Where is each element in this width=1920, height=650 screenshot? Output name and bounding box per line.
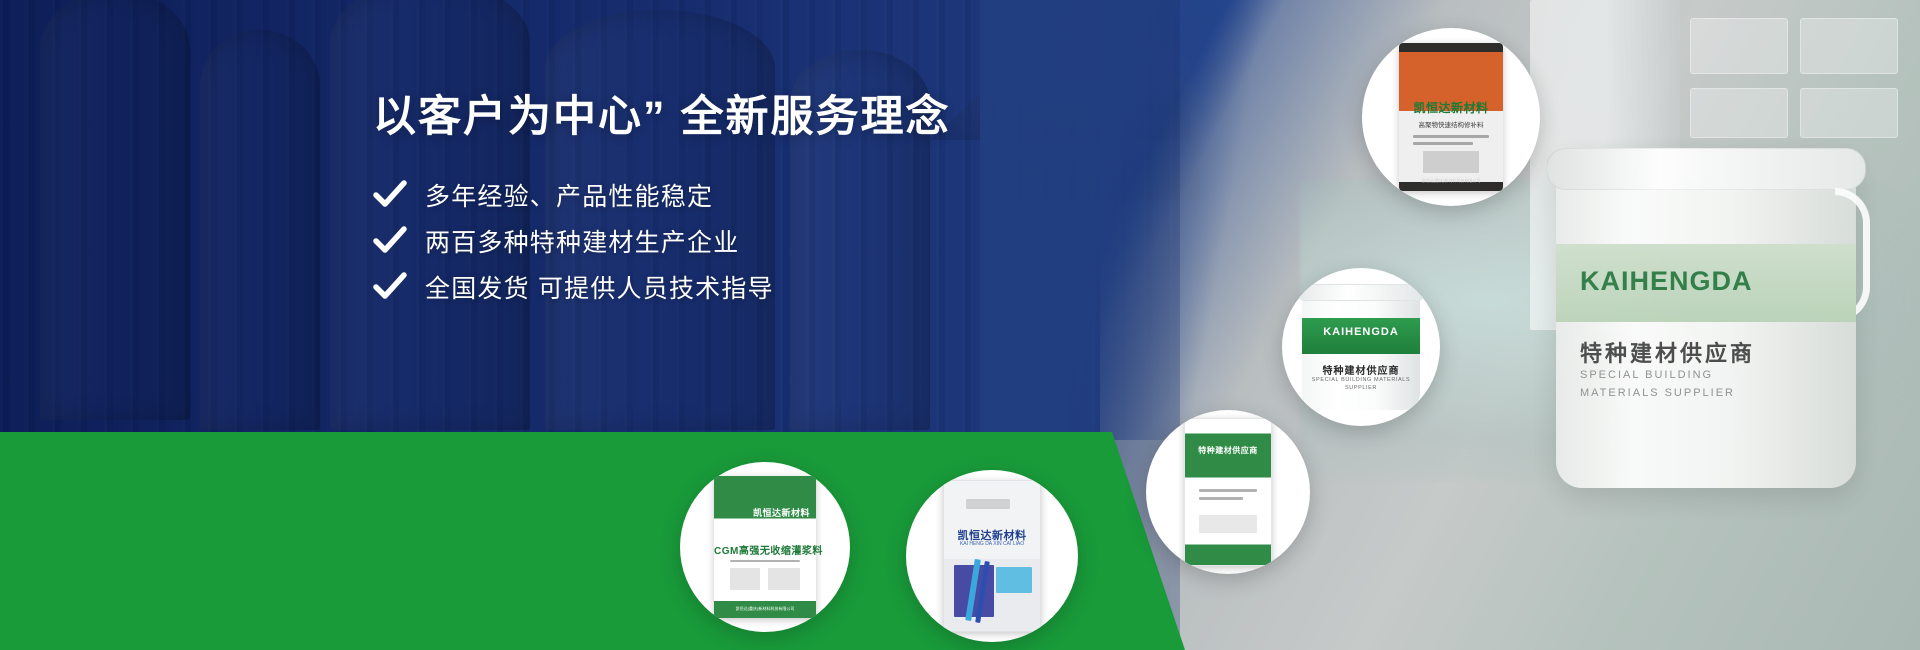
product-bag-waterproof: 凯恒达新材料 KAI HENG DA XIN CAI LIAO [943, 480, 1041, 632]
bag-detail-block [768, 568, 800, 590]
bucket-rim [1297, 284, 1425, 301]
bucket-title-cn: 特种建材供应商 [1580, 336, 1755, 368]
bag-brand-text: 凯恒达新材料 [714, 506, 816, 519]
page-title: 以客户为中心” 全新服务理念 [373, 93, 1013, 142]
bucket-title-en-line2: MATERIALS SUPPLIER [1580, 384, 1735, 403]
bucket-brand-text: KAIHENGDA [1580, 266, 1753, 297]
hero-copy-block: 以客户为中心” 全新服务理念 多年经验、产品性能稳定 两百多种特种建材生产企业 [373, 93, 1013, 310]
bag-detail-block [1199, 489, 1257, 492]
bag-detail-block [1199, 515, 1257, 533]
check-icon [373, 178, 407, 212]
bucket-title-cn: 特种建材供应商 [1302, 362, 1420, 377]
bag-company-text: 凯恒达(重庆)新材料科技有限公司 [714, 606, 816, 612]
product-bag-supplier: 特种建材供应商 [1184, 418, 1272, 566]
bag-detail-block [1413, 142, 1473, 145]
feature-list: 多年经验、产品性能稳定 两百多种特种建材生产企业 全国发货 可提供人员技术指导 [373, 172, 1013, 309]
bag-detail-block [730, 568, 760, 590]
list-item-label: 全国发货 可提供人员技术指导 [425, 269, 774, 305]
list-item-label: 两百多种特种建材生产企业 [425, 223, 739, 259]
bag-company-text: 凯恒达(重庆)新材料科技有限公司 [1399, 178, 1503, 184]
bucket-title-en-line1: SPECIAL BUILDING [1580, 366, 1713, 385]
list-item: 两百多种特种建材生产企业 [373, 218, 1013, 263]
factory-machine [1800, 18, 1898, 74]
bag-title-text: 特种建材供应商 [1185, 445, 1271, 456]
product-bag-grout: 凯恒达新材料 CGM高强无收缩灌浆料 凯恒达(重庆)新材料科技有限公司 [714, 476, 816, 618]
bag-pinyin-text: KAI HENG DA XIN CAI LIAO [944, 541, 1040, 547]
factory-machine [1690, 88, 1788, 138]
product-circle-bottom-2: 凯恒达新材料 KAI HENG DA XIN CAI LIAO [906, 470, 1078, 642]
blue-diagonal-wedge [980, 0, 1300, 440]
bag-barcode [966, 499, 1010, 509]
bucket-rim [1546, 148, 1866, 190]
list-item-label: 多年经验、产品性能稳定 [425, 177, 713, 213]
list-item: 全国发货 可提供人员技术指导 [373, 264, 1013, 309]
product-circle-top-right: 凯恒达新材料 高聚物快速结构修补料 凯恒达(重庆)新材料科技有限公司 [1362, 28, 1540, 206]
hero-banner: KAIHENGDA 特种建材供应商 SPECIAL BUILDING MATER… [0, 0, 1920, 650]
factory-machine [1690, 18, 1788, 74]
bag-product-text: CGM高强无收缩灌浆料 [714, 542, 816, 557]
product-circle-mid-right: KAIHENGDA 特种建材供应商 SPECIAL BUILDING MATER… [1282, 268, 1440, 426]
check-icon [373, 270, 407, 304]
bag-desc-text: 高聚物快速结构修补料 [1399, 119, 1503, 129]
check-icon [373, 224, 407, 258]
product-bucket-small: KAIHENGDA 特种建材供应商 SPECIAL BUILDING MATER… [1302, 284, 1420, 410]
product-bag-repair-mortar: 凯恒达新材料 高聚物快速结构修补料 凯恒达(重庆)新材料科技有限公司 [1399, 43, 1503, 191]
bag-detail-block [1199, 497, 1243, 500]
bag-detail-block [1423, 151, 1479, 173]
bucket-brand-text: KAIHENGDA [1302, 326, 1420, 338]
bucket-title-en: SPECIAL BUILDING MATERIALS SUPPLIER [1302, 376, 1420, 393]
bag-detail-block [1413, 135, 1489, 138]
bag-brand-text: 凯恒达新材料 [1399, 99, 1503, 116]
product-circle-bottom-3: 特种建材供应商 [1146, 410, 1310, 574]
factory-machine [1800, 88, 1898, 138]
bag-detail-block [996, 567, 1032, 593]
list-item: 多年经验、产品性能稳定 [373, 172, 1013, 217]
product-big-bucket: KAIHENGDA 特种建材供应商 SPECIAL BUILDING MATER… [1556, 148, 1856, 488]
bag-detail-block [730, 560, 800, 562]
product-circle-bottom-1: 凯恒达新材料 CGM高强无收缩灌浆料 凯恒达(重庆)新材料科技有限公司 [680, 462, 850, 632]
